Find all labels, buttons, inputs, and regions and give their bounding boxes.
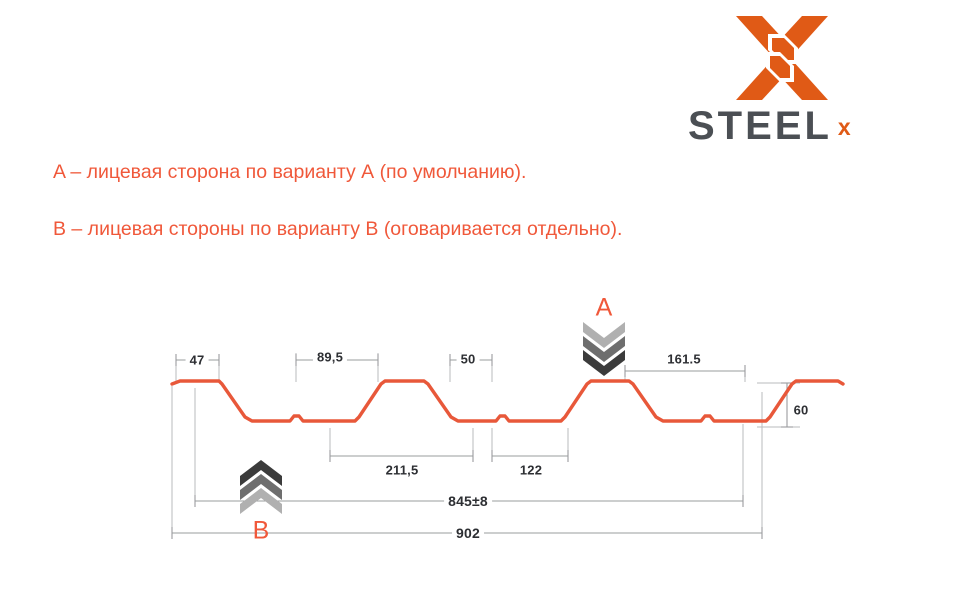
sheet-profile-outline: [172, 381, 843, 421]
marker-b-letter: B: [253, 517, 270, 546]
witness-lines: [172, 353, 800, 538]
dimension-label-161-5: 161.5: [663, 352, 705, 367]
marker-b-chevrons-icon: [240, 460, 282, 514]
dimension-label-60: 60: [790, 403, 813, 418]
dimension-lines: [172, 354, 793, 539]
dimension-label-902: 902: [452, 525, 484, 541]
dimension-label-122: 122: [516, 463, 546, 478]
dimension-label-47: 47: [186, 353, 209, 368]
dim-122-line: [492, 450, 568, 462]
marker-a-letter: A: [596, 294, 613, 323]
dimension-label-211-5: 211,5: [382, 463, 423, 478]
dim-211-5-line: [330, 450, 473, 462]
marker-a-chevrons-icon: [583, 322, 625, 376]
dim-161-5-line: [625, 365, 745, 377]
dimension-label-89-5: 89,5: [313, 350, 347, 365]
dimension-label-50: 50: [457, 352, 480, 367]
dimension-label-845: 845±8: [444, 493, 492, 509]
